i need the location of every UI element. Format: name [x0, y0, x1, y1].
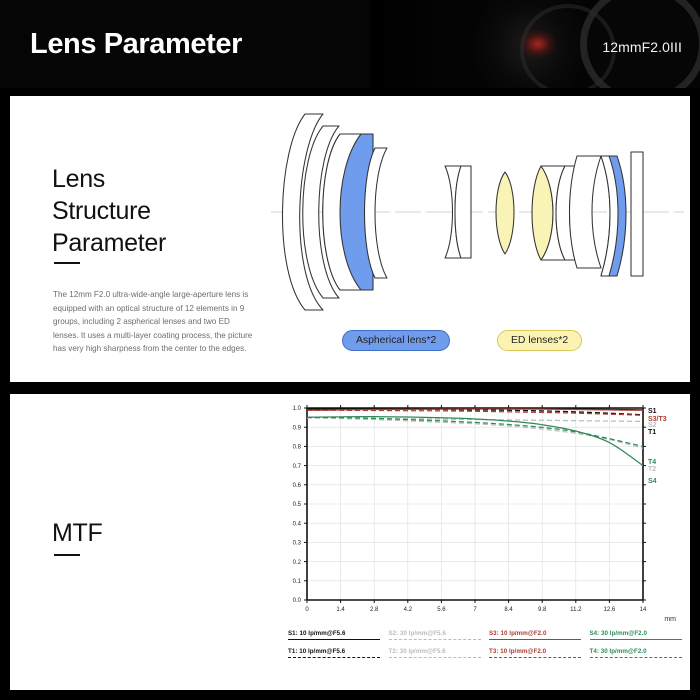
svg-text:14: 14	[640, 607, 647, 613]
svg-text:2.8: 2.8	[370, 607, 379, 613]
badge-ed-lens: ED lenses*2	[497, 330, 582, 351]
legend-item-label: S3: 10 lp/mm@F2.0	[489, 630, 586, 637]
svg-text:0.2: 0.2	[293, 560, 302, 566]
legend-item-t4: T4: 30 lp/mm@F2.0	[590, 648, 687, 658]
element-13-cover-glass	[631, 152, 643, 276]
svg-text:7: 7	[473, 607, 477, 613]
legend-item-swatch	[288, 657, 380, 658]
svg-text:0.4: 0.4	[293, 521, 302, 527]
svg-text:1.4: 1.4	[336, 607, 345, 613]
badge-ed-label: ED lenses*2	[511, 335, 568, 346]
legend-item-label: T3: 10 lp/mm@F2.0	[489, 648, 586, 655]
heading-line-3: Parameter	[52, 228, 166, 260]
legend-item-s3: S3: 10 lp/mm@F2.0	[489, 630, 586, 640]
legend-item-swatch	[590, 639, 682, 640]
heading-line-1: Lens	[52, 164, 166, 196]
svg-text:0.8: 0.8	[293, 445, 302, 451]
page-header: Lens Parameter 12mmF2.0III	[0, 0, 700, 88]
svg-text:0.7: 0.7	[293, 464, 302, 470]
legend-item-label: S2: 30 lp/mm@F5.6	[389, 630, 486, 637]
edge-label-s4: S4	[648, 478, 657, 485]
mtf-chart: 0.00.10.20.30.40.50.60.70.80.91.0 01.42.…	[275, 398, 680, 630]
legend-item-t1: T1: 10 lp/mm@F5.6	[288, 648, 385, 658]
legend-item-label: S1: 10 lp/mm@F5.6	[288, 630, 385, 637]
svg-text:11.2: 11.2	[570, 607, 582, 613]
edge-label-s2: S2	[648, 422, 657, 429]
svg-text:0.3: 0.3	[293, 541, 302, 547]
svg-text:1.0: 1.0	[293, 406, 302, 412]
svg-text:4.2: 4.2	[404, 607, 413, 613]
svg-text:9.8: 9.8	[538, 607, 547, 613]
edge-label-t4: T4	[648, 459, 656, 466]
lens-structure-heading: Lens Structure Parameter	[52, 164, 166, 259]
legend-item-swatch	[389, 657, 481, 658]
page-title: Lens Parameter	[30, 28, 242, 61]
lens-structure-description: The 12mm F2.0 ultra-wide-angle large-ape…	[53, 288, 253, 356]
mtf-heading: MTF	[52, 518, 102, 550]
edge-label-s1: S1	[648, 408, 657, 415]
edge-label-t2: T2	[648, 466, 656, 473]
mtf-legend-table: S1: 10 lp/mm@F5.6S2: 30 lp/mm@F5.6S3: 10…	[288, 630, 686, 658]
legend-item-label: T1: 10 lp/mm@F5.6	[288, 648, 385, 655]
legend-item-label: S4: 30 lp/mm@F2.0	[590, 630, 687, 637]
chart-edge-series-labels: S1S3/T3S2T1T4T2S4	[648, 408, 667, 485]
heading-underline-rule	[54, 262, 80, 264]
legend-item-s4: S4: 30 lp/mm@F2.0	[590, 630, 687, 640]
mtf-heading-underline-rule	[54, 554, 80, 556]
chart-gridlines	[307, 408, 643, 600]
svg-text:0.6: 0.6	[293, 483, 302, 489]
svg-text:0.5: 0.5	[293, 502, 302, 508]
mtf-panel: MTF 0.00.10.20.30.40.50.60.70.80.91.0 01…	[10, 394, 690, 690]
svg-text:5.6: 5.6	[437, 607, 446, 613]
badge-aspherical-label: Aspherical lens*2	[356, 335, 436, 346]
edge-label-t1: T1	[648, 429, 656, 436]
element-7-ed	[496, 172, 514, 254]
optical-diagram	[265, 104, 690, 319]
legend-item-t3: T3: 10 lp/mm@F2.0	[489, 648, 586, 658]
legend-item-label: T4: 30 lp/mm@F2.0	[590, 648, 687, 655]
lens-structure-panel: Lens Structure Parameter The 12mm F2.0 u…	[10, 96, 690, 382]
svg-text:0.9: 0.9	[293, 425, 302, 431]
x-axis-unit-label: mm	[664, 616, 676, 623]
chart-y-tick-labels: 0.00.10.20.30.40.50.60.70.80.91.0	[293, 406, 302, 604]
svg-text:8.4: 8.4	[504, 607, 513, 613]
legend-item-label: T2: 30 lp/mm@F5.6	[389, 648, 486, 655]
legend-item-s2: S2: 30 lp/mm@F5.6	[389, 630, 486, 640]
svg-text:0.1: 0.1	[293, 579, 302, 585]
badge-aspherical-lens: Aspherical lens*2	[342, 330, 450, 351]
lens-parameter-page: Lens Parameter 12mmF2.0III Lens Structur…	[0, 0, 700, 700]
legend-item-swatch	[590, 657, 682, 658]
element-6-plano	[455, 166, 471, 258]
legend-item-swatch	[389, 639, 481, 640]
legend-item-s1: S1: 10 lp/mm@F5.6	[288, 630, 385, 640]
legend-item-swatch	[288, 639, 380, 640]
chart-x-tick-labels: 01.42.84.25.678.49.811.212.614	[305, 607, 647, 613]
svg-text:12.6: 12.6	[604, 607, 616, 613]
legend-item-t2: T2: 30 lp/mm@F5.6	[389, 648, 486, 658]
heading-line-2: Structure	[52, 196, 166, 228]
lens-model-label: 12mmF2.0III	[602, 39, 682, 55]
svg-text:0: 0	[305, 607, 309, 613]
legend-item-swatch	[489, 639, 581, 640]
svg-text:0.0: 0.0	[293, 598, 302, 604]
legend-item-swatch	[489, 657, 581, 658]
lens-elements	[282, 114, 643, 310]
